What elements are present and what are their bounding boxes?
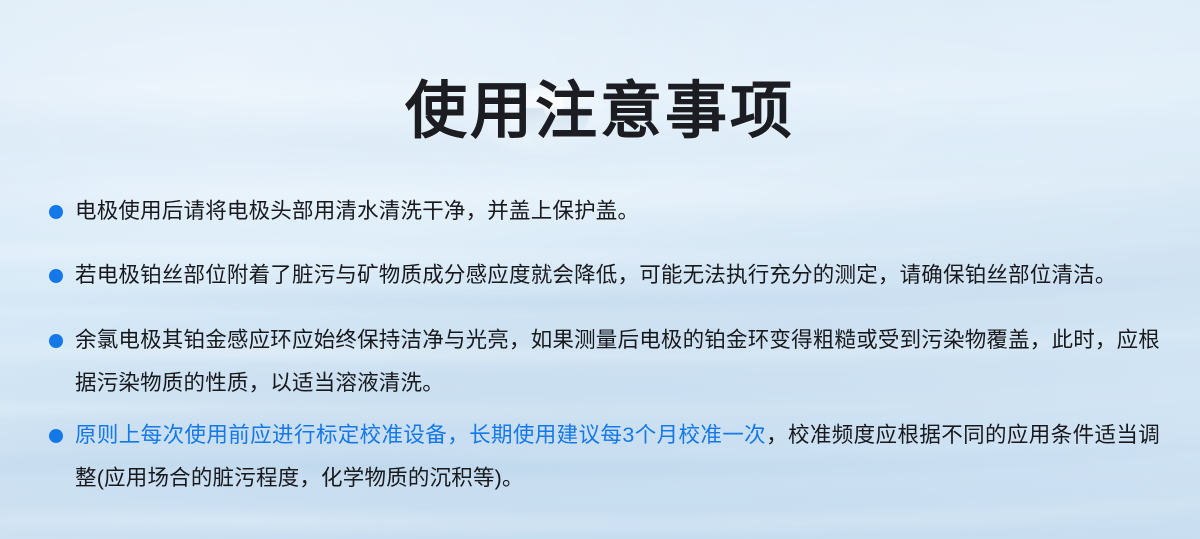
list-item: 余氯电极其铂金感应环应始终保持洁净与光亮，如果测量后电极的铂金环变得粗糙或受到污…	[48, 319, 1160, 405]
bullet-dot-icon	[49, 429, 63, 443]
list-item-text: 电极使用后请将电极头部用清水清洗干净，并盖上保护盖。	[75, 199, 639, 223]
list-item-text-highlight: 原则上每次使用前应进行标定校准设备，长期使用建议每3个月校准一次	[75, 423, 766, 447]
list-item-highlighted: 原则上每次使用前应进行标定校准设备，长期使用建议每3个月校准一次，校准频度应根据…	[48, 414, 1160, 500]
bullet-dot-icon	[49, 334, 63, 348]
list-item: 若电极铂丝部位附着了脏污与矿物质成分感应度就会降低，可能无法执行充分的测定，请确…	[48, 254, 1160, 297]
notes-list: 电极使用后请将电极头部用清水清洗干净，并盖上保护盖。 若电极铂丝部位附着了脏污与…	[48, 168, 1160, 500]
page-title: 使用注意事项	[0, 75, 1200, 148]
list-item-text: 余氯电极其铂金感应环应始终保持洁净与光亮，如果测量后电极的铂金环变得粗糙或受到污…	[75, 328, 1160, 395]
list-item-text: 若电极铂丝部位附着了脏污与矿物质成分感应度就会降低，可能无法执行充分的测定，请确…	[75, 263, 1117, 287]
bullet-dot-icon	[49, 205, 63, 219]
poster-canvas: 使用注意事项 电极使用后请将电极头部用清水清洗干净，并盖上保护盖。 若电极铂丝部…	[0, 0, 1200, 539]
content-area: 使用注意事项 电极使用后请将电极头部用清水清洗干净，并盖上保护盖。 若电极铂丝部…	[0, 0, 1200, 539]
list-item: 电极使用后请将电极头部用清水清洗干净，并盖上保护盖。	[48, 190, 1160, 233]
bullet-dot-icon	[49, 269, 63, 283]
